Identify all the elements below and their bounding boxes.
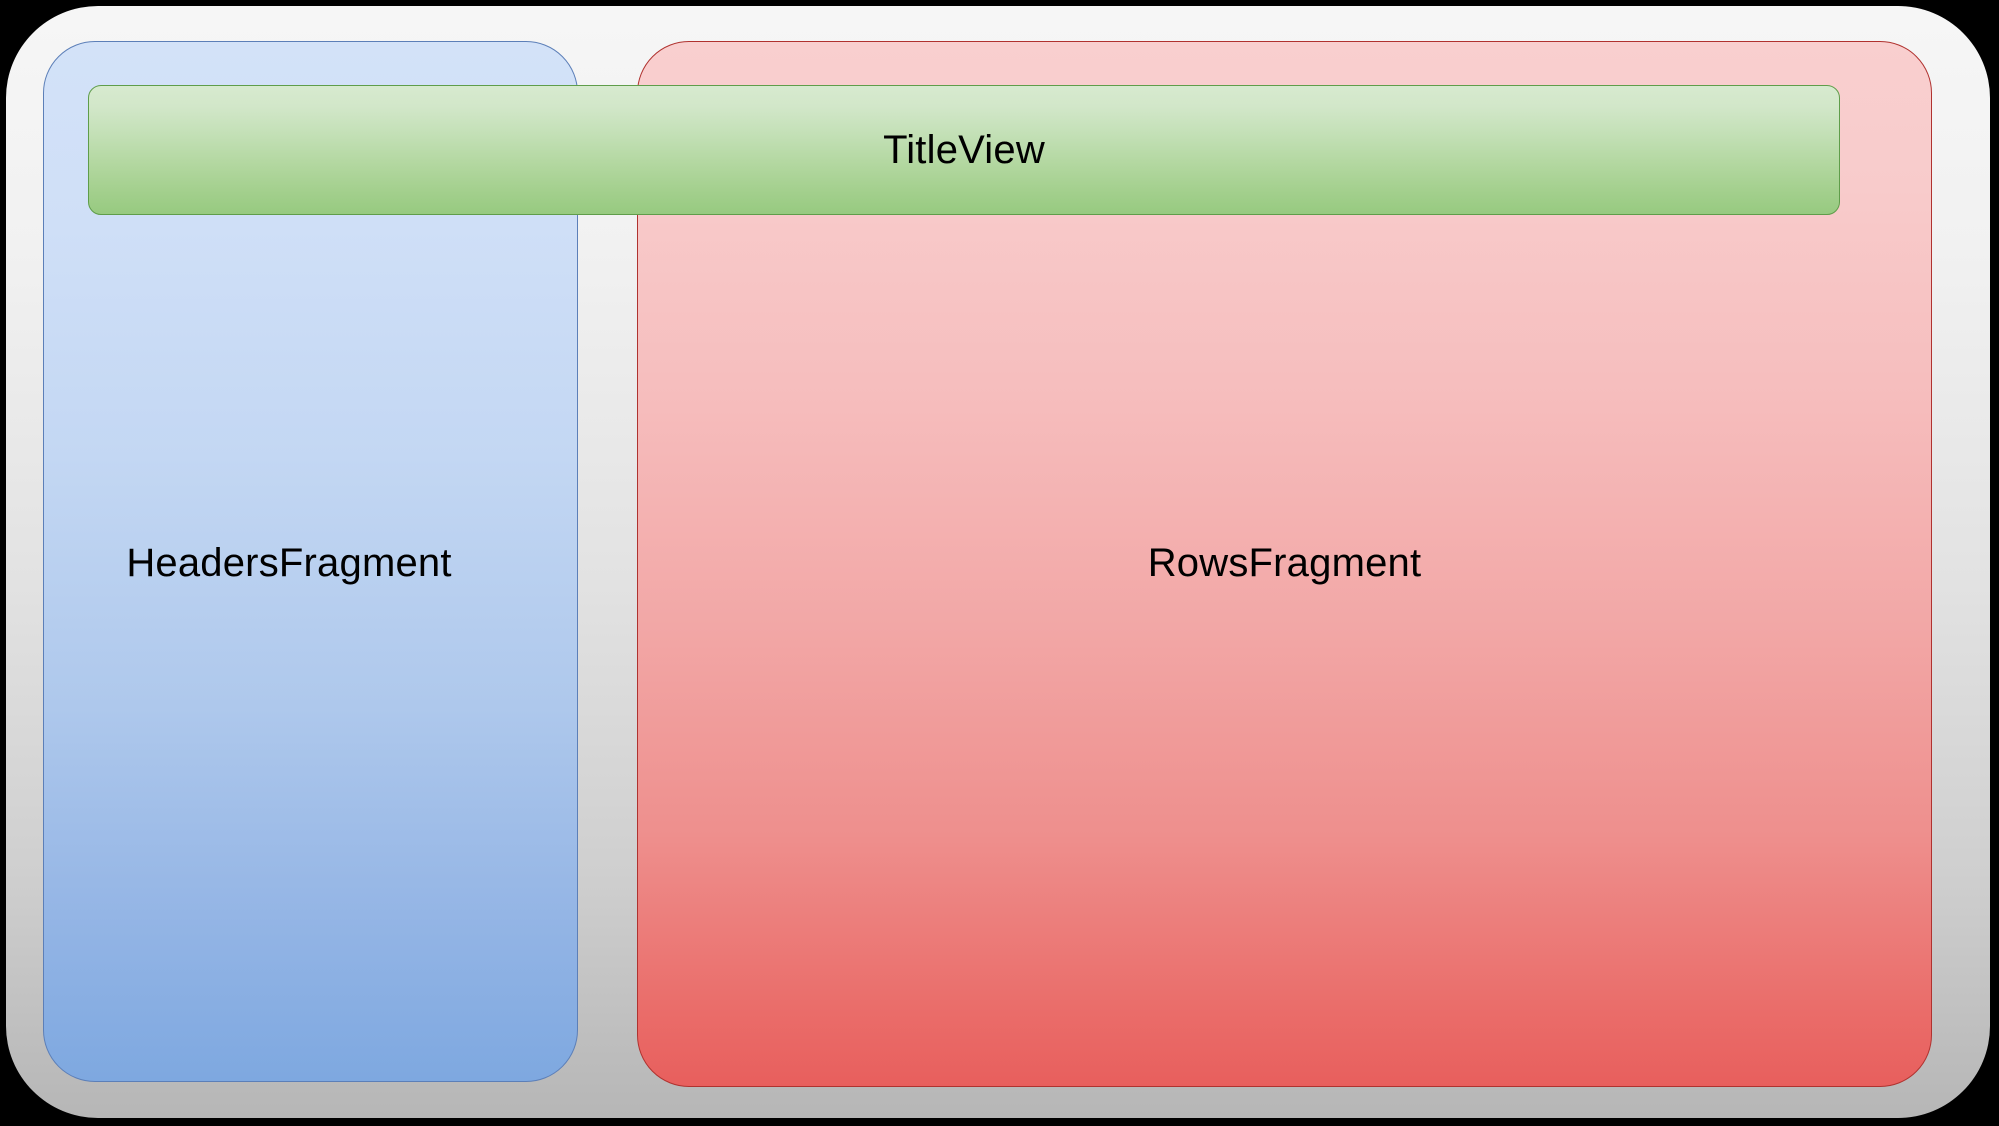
title-view-label: TitleView (883, 130, 1045, 170)
diagram-canvas: TitleView HeadersFragment RowsFragment (0, 0, 1999, 1126)
rows-fragment-label: RowsFragment (637, 543, 1932, 583)
headers-fragment-label: HeadersFragment (0, 543, 578, 583)
title-view-bar[interactable]: TitleView (88, 85, 1840, 215)
